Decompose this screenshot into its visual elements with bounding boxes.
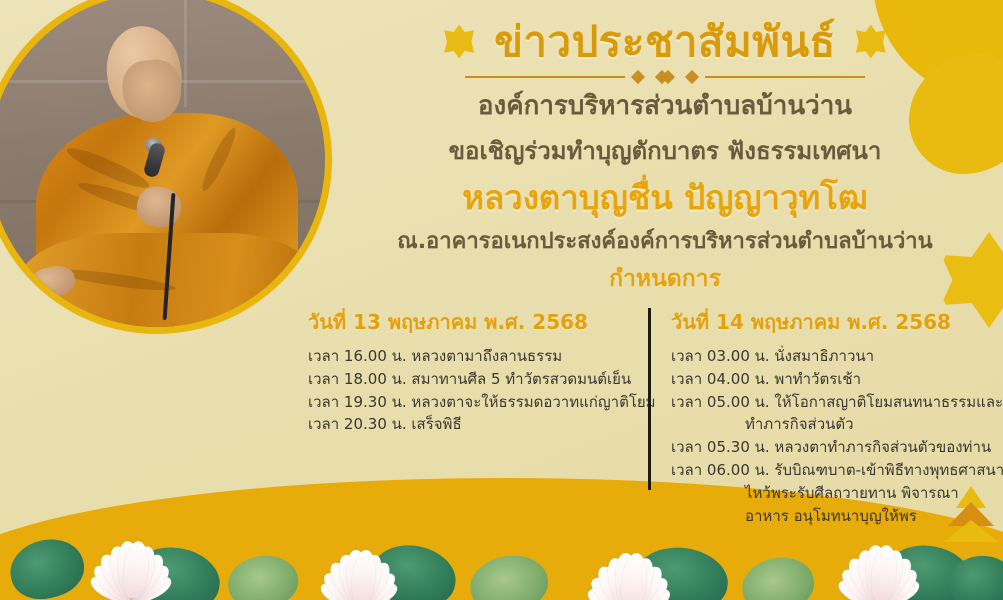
schedule-item-text: เวลา 04.00 น. พาทำวัตรเช้า	[671, 370, 861, 388]
schedule-item-text: เวลา 05.00 น. ให้โอกาสญาติโยมสนทนาธรรมแล…	[671, 393, 1003, 411]
lotus-flower	[303, 522, 417, 600]
flower-ornament-icon-left	[442, 25, 476, 59]
organization-name: องค์การบริหารส่วนตำบลบ้านว่าน	[355, 90, 975, 124]
lotus-flower	[72, 512, 192, 598]
schedule-item-text: เวลา 06.00 น. รับบิณฑบาต-เข้าพิธีทางพุทธ…	[671, 461, 1003, 479]
day1-heading: วันที่ 13 พฤษภาคม พ.ศ. 2568	[308, 306, 636, 338]
schedule-item: เวลา 20.30 น. เสร็จพิธี	[308, 413, 636, 436]
schedule-item-text: เวลา 03.00 น. นั่งสมาธิภาวนา	[671, 347, 874, 365]
schedule-item: เวลา 05.00 น. ให้โอกาสญาติโยมสนทนาธรรมแล…	[671, 391, 987, 437]
monk-name: หลวงตาบุญชื่น ปัญญาวุทโฒ	[355, 177, 975, 218]
photo-oval-frame	[0, 0, 332, 334]
schedule-item-text: เวลา 16.00 น. หลวงตามาถึงลานธรรม	[308, 347, 562, 365]
flower-ornament-icon-right	[854, 25, 888, 59]
schedule-column-day1: วันที่ 13 พฤษภาคม พ.ศ. 2568 เวลา 16.00 น…	[296, 306, 648, 527]
schedule-item: เวลา 05.30 น. หลวงตาทำภารกิจส่วนตัวของท่…	[671, 436, 987, 459]
venue-text: ณ.อาคารอเนกประสงค์องค์การบริหารส่วนตำบลบ…	[355, 228, 975, 257]
page-title: ข่าวประชาสัมพันธ์	[494, 18, 836, 65]
invitation-text: ขอเชิญร่วมทำบุญตักบาตร ฟังธรรมเทศนา	[355, 136, 975, 167]
lotus-flower	[569, 523, 691, 600]
agenda-label: กำหนดการ	[355, 265, 975, 295]
schedule-item: เวลา 06.00 น. รับบิณฑบาต-เข้าพิธีทางพุทธ…	[671, 459, 987, 527]
poster-canvas: ข่าวประชาสัมพันธ์ องค์การบริหารส่วนตำบลบ…	[0, 0, 1003, 600]
schedule-item-continuation: ไหว้พระรับศีลถวายทาน พิจารณา	[671, 482, 987, 505]
schedule-item-continuation: ทำภารกิจส่วนตัว	[671, 413, 987, 436]
title-row: ข่าวประชาสัมพันธ์	[355, 18, 975, 65]
schedule-item: เวลา 03.00 น. นั่งสมาธิภาวนา	[671, 345, 987, 368]
schedule-section: วันที่ 13 พฤษภาคม พ.ศ. 2568 เวลา 16.00 น…	[296, 306, 996, 527]
schedule-column-day2: วันที่ 14 พฤษภาคม พ.ศ. 2568 เวลา 03.00 น…	[651, 306, 999, 527]
monk-photo	[0, 0, 332, 334]
schedule-item: เวลา 19.30 น. หลวงตาจะให้ธรรมดอวาทแก่ญาต…	[308, 391, 636, 414]
schedule-item: เวลา 04.00 น. พาทำวัตรเช้า	[671, 368, 987, 391]
schedule-item-text: เวลา 05.30 น. หลวงตาทำภารกิจส่วนตัวของท่…	[671, 438, 991, 456]
day2-heading: วันที่ 14 พฤษภาคม พ.ศ. 2568	[671, 306, 987, 338]
title-divider-ornament	[465, 70, 865, 84]
header-block: ข่าวประชาสัมพันธ์ องค์การบริหารส่วนตำบลบ…	[355, 18, 975, 295]
lotus-flower	[820, 516, 940, 600]
schedule-item-text: เวลา 19.30 น. หลวงตาจะให้ธรรมดอวาทแก่ญาต…	[308, 393, 656, 411]
schedule-item: เวลา 16.00 น. หลวงตามาถึงลานธรรม	[308, 345, 636, 368]
schedule-item-text: เวลา 20.30 น. เสร็จพิธี	[308, 415, 462, 433]
schedule-item: เวลา 18.00 น. สมาทานศีล 5 ทำวัตรสวดมนต์เ…	[308, 368, 636, 391]
schedule-item-continuation: อาหาร อนุโมทนาบุญให้พร	[671, 505, 987, 528]
schedule-item-text: เวลา 18.00 น. สมาทานศีล 5 ทำวัตรสวดมนต์เ…	[308, 370, 631, 388]
